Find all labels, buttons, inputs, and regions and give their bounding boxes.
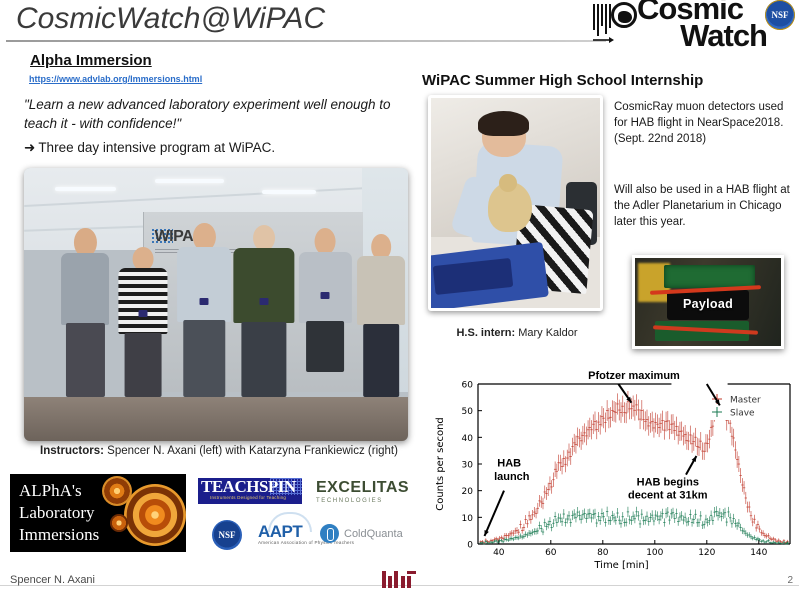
detector-description: CosmicRay muon detectors used for HAB fl… [614,100,796,147]
instructors-names: Spencer N. Axani (left) with Katarzyna F… [104,445,398,457]
coldquanta-wordmark: ColdQuanta [344,528,403,540]
payload-label: Payload [683,297,733,311]
coldquanta-logo: ColdQuanta [320,524,403,543]
svg-text:120: 120 [698,548,715,558]
counts-vs-time-chart: 0102030405060406080100120140Time [min]Co… [432,368,798,584]
ceiling-light [262,190,316,194]
adler-description: Will also be used in a HAB flight at the… [614,183,796,230]
ceiling-light [155,179,224,183]
alpha-immersion-heading: Alpha Immersion [30,52,152,69]
excelitas-tagline: TECHNOLOGIES [316,498,409,504]
group-photo: WIPAC [24,168,408,441]
person-figure [228,225,301,397]
coldquanta-mark-icon [320,524,339,543]
alpha-line-1: ALPhA's [19,480,99,502]
program-bullet: ➜Three day intensive program at WiPAC. [24,139,424,157]
intern-name: Mary Kaldor [515,327,577,339]
alpha-rings-icon [98,474,186,552]
alpha-line-2: Laboratory [19,502,99,524]
svg-text:Slave: Slave [730,409,755,419]
program-bullet-text: Three day intensive program at WiPAC. [38,140,275,155]
alpha-wordmark: ALPhA's Laboratory Immersions [19,480,99,545]
photo-person-hair [478,111,529,136]
teachspin-logo: TEACHSPIN Instruments Designed for Teach… [198,478,302,504]
svg-text:20: 20 [462,487,474,497]
svg-text:40: 40 [462,434,474,444]
svg-text:50: 50 [462,407,474,417]
svg-text:60: 60 [462,381,474,391]
title-divider [6,40,606,42]
svg-text:0: 0 [467,541,473,551]
svg-text:launch: launch [494,471,530,483]
nsf-logo: NSF [212,520,242,550]
excelitas-wordmark: EXCELITAS [316,479,409,497]
svg-text:80: 80 [597,548,609,558]
svg-text:60: 60 [545,548,557,558]
photo-floor [24,397,408,441]
ceiling-light [55,187,116,191]
chart-svg: 0102030405060406080100120140Time [min]Co… [432,368,798,584]
cosmicwatch-logo: Cosmic Watch NSF [589,0,795,58]
person-figure [350,234,408,398]
footer-author: Spencer N. Axani [10,574,95,586]
svg-text:140: 140 [750,548,767,558]
quote-text: "Learn a new advanced laboratory experim… [24,96,414,133]
payload-circuit-board-top [664,265,755,288]
svg-text:30: 30 [462,461,474,471]
advlab-link[interactable]: https://www.advlab.org/Immersions.html [29,74,202,84]
alpha-logo: ALPhA's Laboratory Immersions [10,474,186,552]
svg-text:100: 100 [646,548,663,558]
svg-text:Time [min]: Time [min] [593,560,648,571]
logo-line-2: Watch [611,23,771,50]
person-figure [55,228,116,397]
svg-text:HAB begins: HAB begins [637,476,699,488]
svg-text:HAB: HAB [497,458,521,470]
teachspin-tagline: Instruments Designed for Teaching [210,495,286,500]
nsf-wordmark: NSF [212,520,242,550]
slide: CosmicWatch@WiPAC Cosmic Watch NSF Alpha… [0,0,799,600]
page-number: 2 [787,575,793,586]
intern-photo [428,95,603,311]
svg-text:decent at 31km: decent at 31km [628,490,708,502]
payload-photo: Payload [632,255,784,349]
svg-text:Counts per second: Counts per second [435,417,446,511]
svg-text:Master: Master [730,396,761,406]
nsf-seal-icon: NSF [765,0,795,30]
intern-label: H.S. intern: [456,327,515,339]
person-figure [293,228,358,397]
page-title: CosmicWatch@WiPAC [16,2,325,36]
svg-text:10: 10 [462,514,474,524]
svg-text:Pfotzer maximum: Pfotzer maximum [588,370,680,382]
right-arrow-icon: ➜ [24,140,35,155]
internship-heading: WiPAC Summer High School Internship [422,72,703,89]
excelitas-logo: EXCELITAS TECHNOLOGIES [316,479,409,504]
intern-caption: H.S. intern: Mary Kaldor [428,327,606,339]
detector-bars-icon [593,4,613,38]
person-figure [112,247,173,397]
svg-text:40: 40 [493,548,505,558]
instructors-label: Instructors: [40,445,104,457]
nsf-seal-label: NSF [765,0,795,30]
instructors-caption: Instructors: Spencer N. Axani (left) wit… [24,444,414,460]
cosmicwatch-wordmark: Cosmic Watch [611,0,771,49]
alpha-line-3: Immersions [19,524,99,546]
mit-logo-icon [382,571,416,588]
